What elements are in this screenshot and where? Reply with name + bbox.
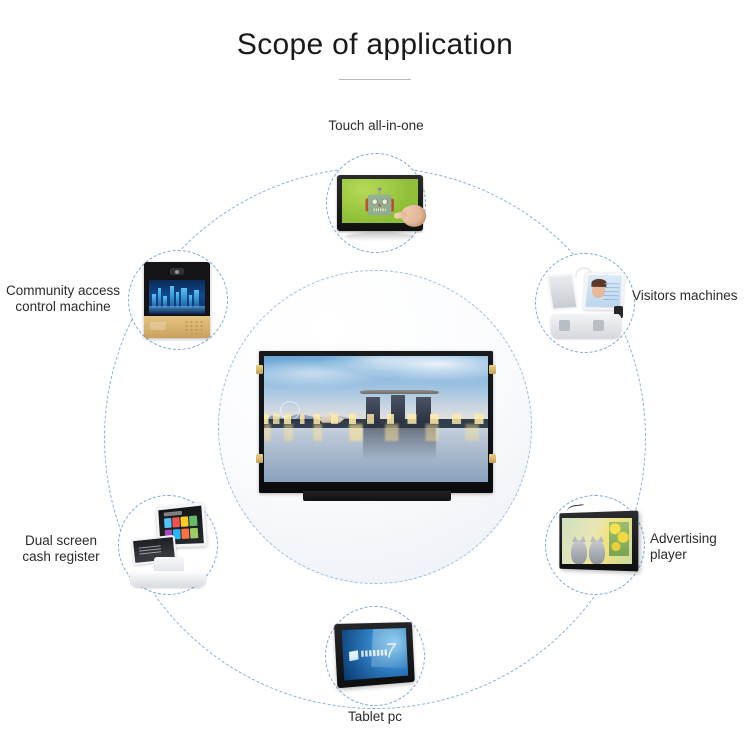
access-panel-body: [144, 262, 210, 338]
lcd-display-panel: [259, 351, 493, 501]
tablet-frame: 7: [334, 622, 415, 688]
node-label-visitors-machines: Visitors machines: [632, 288, 750, 304]
panel-bezel: [259, 351, 493, 493]
android-touch-monitor-with-hand-icon: 🤖: [337, 175, 423, 231]
pos-terminal-icon: [130, 505, 206, 587]
advertising-display-icon: [556, 512, 638, 570]
mounting-tab-bottom-left: [256, 454, 263, 463]
kitten-left: [571, 540, 587, 564]
light-reflection-glow: [264, 424, 488, 441]
mounting-tab-top-left: [256, 365, 263, 374]
skypark-deck: [360, 390, 440, 394]
speaker-vent-left: [559, 320, 570, 331]
building: [181, 288, 186, 308]
tile: [181, 516, 189, 527]
dual-screen-visitor-kiosk-icon: [547, 266, 625, 340]
speaker-vent-right: [593, 320, 604, 331]
city-night-screen: [149, 280, 205, 314]
mounting-tab-bottom-right: [489, 454, 496, 463]
windows-logo-icon: [349, 650, 359, 661]
title-underline-divider: [339, 79, 411, 80]
pos-base: [130, 571, 206, 587]
screen-glare: [371, 628, 408, 668]
building: [170, 286, 174, 308]
secondary-screen: [546, 273, 579, 310]
camera-icon: [170, 268, 184, 275]
card-reader-plate: [150, 322, 166, 330]
panel-screen-image: [264, 356, 488, 482]
door-access-panel-icon: [144, 262, 210, 338]
scope-of-application-diagram: Scope of application: [0, 0, 750, 750]
kitten-right: [589, 540, 605, 564]
tile: [172, 517, 180, 528]
page-title: Scope of application: [0, 28, 750, 62]
customer-screen-text: [139, 545, 162, 556]
tablet-screen: 7: [342, 628, 409, 680]
node-label-dual-screen-cash-register: Dual screen cash register: [4, 533, 118, 565]
monitor-reflection: [345, 232, 415, 241]
kiosk-base: [551, 314, 621, 338]
node-label-advertising-player: Advertising player: [650, 531, 750, 563]
water-reflection: [149, 306, 205, 314]
mounting-tab-top-right: [489, 365, 496, 374]
tile: [189, 515, 197, 526]
tile: [190, 528, 198, 539]
keypad-buttons: [184, 320, 204, 334]
water-region: [264, 424, 488, 482]
node-label-touch-all-in-one: Touch all-in-one: [276, 118, 476, 134]
city-lights-row: [264, 414, 488, 424]
android-robot-icon: 🤖: [364, 188, 396, 214]
node-label-community-access-control-machine: Community access control machine: [0, 283, 130, 315]
keypad-area: [144, 316, 210, 338]
yellow-flowers: [609, 522, 629, 556]
kitten-advertisement-image: [562, 518, 632, 564]
screen-title-bar: [164, 511, 182, 517]
tile: [181, 528, 189, 539]
node-label-tablet-pc: Tablet pc: [300, 709, 450, 725]
primary-screen: [583, 272, 626, 311]
panel-controller-board: [303, 491, 451, 501]
tile: [164, 518, 171, 529]
windows-tablet-icon: 7: [336, 623, 416, 685]
info-text-lines: [603, 283, 619, 301]
